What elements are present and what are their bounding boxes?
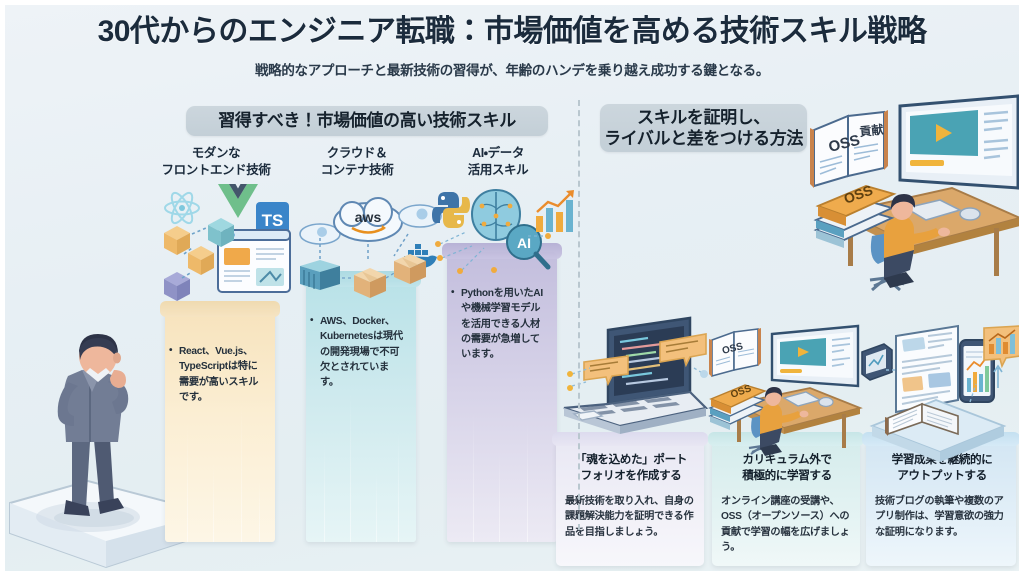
bullet-marker: • [310, 313, 313, 328]
bar-chart-trend-icon [984, 326, 1020, 366]
skill-body-text: AWS、Docker、Kubernetesは現代の開発現場で不可欠とされています… [320, 316, 403, 388]
method-title-line2: アウトプットする [897, 469, 987, 482]
oss-study-illustration: OSS [706, 326, 868, 450]
header: 30代からのエンジニア転職：市場価値を高める技術スキル戦略 戦略的なアプローチと… [0, 14, 1024, 79]
hero-desk-scene: OSS 貢献 [808, 96, 1024, 308]
skill-heading-line1: クラウド＆ [291, 145, 423, 162]
method-body-output: 技術ブログの執筆や複数のアプリ制作は、学習意欲の強力な証明になります。 [875, 494, 1009, 540]
method-title-line1: 「魂を込めた」ポート [575, 453, 687, 466]
method-body-selfstudy: オンライン講座の受講や、OSS（オープンソース）への貢献で学習の幅を広げましょう… [721, 494, 853, 555]
laptop-code-illustration [556, 312, 716, 448]
package-box-icon [354, 268, 386, 298]
ai-illustration: AI [432, 186, 582, 278]
bullet-marker: • [451, 285, 454, 300]
page-title: 30代からのエンジニア転職：市場価値を高める技術スキル戦略 [0, 14, 1024, 50]
pillar-streaks [165, 392, 275, 542]
skill-heading-frontend: モダンな フロントエンド技術 [150, 145, 282, 179]
pillar-streaks [447, 392, 557, 542]
open-book-icon: OSS 貢献 [810, 110, 888, 188]
react-icon [165, 190, 199, 226]
skill-heading-line2: 活用スキル [432, 162, 564, 179]
vue-icon [218, 184, 258, 218]
skill-body-text: React、Vue.js、TypeScriptは特に需要が高いスキルです。 [179, 346, 258, 403]
method-title-portfolio: 「魂を込めた」ポート フォリオを作成する [565, 452, 697, 483]
skill-heading-line1: AI・データ [432, 145, 564, 162]
arrow-up-icon [994, 366, 1002, 388]
chart-bubble-icon [862, 344, 892, 380]
businessman-illustration [48, 330, 158, 530]
skill-heading-ai: AI・データ 活用スキル [432, 145, 564, 179]
skill-body-frontend: • React、Vue.js、TypeScriptは特に需要が高いスキルです。 [178, 344, 266, 405]
bar-chart-trend-icon [536, 190, 574, 232]
aws-cloud-icon: aws [334, 198, 402, 241]
pillar-streaks [306, 392, 416, 542]
skill-heading-line2: フロントエンド技術 [150, 162, 282, 179]
cloud-illustration: aws [296, 186, 442, 296]
skill-body-text: Pythonを用いたAIや機械学習モデルを活用できる人材の需要が急増しています。 [461, 288, 543, 360]
left-section-label: 習得すべき！市場価値の高い技術スキル [218, 110, 516, 131]
oss-book-label2: 貢献 [859, 122, 884, 139]
method-title-line1: カリキュラム外で [742, 453, 831, 466]
svg-text:TS: TS [262, 211, 284, 230]
container-icon [300, 260, 340, 290]
skill-heading-cloud: クラウド＆ コンテナ技術 [291, 145, 423, 179]
skill-pillar-cloud: • AWS、Docker、Kubernetesは現代の開発現場で不可欠とされてい… [306, 280, 416, 542]
magnifier-label: AI [517, 235, 531, 251]
page-subtitle: 戦略的なアプローチと最新技術の習得が、年齢のハンデを乗り越え成功する鍵となる。 [0, 59, 1024, 79]
frontend-illustration: TS [152, 178, 292, 318]
skill-body-cloud: • AWS、Docker、Kubernetesは現代の開発現場で不可欠とされてい… [319, 314, 407, 390]
open-book-icon: OSS [709, 328, 761, 377]
mouse-icon [960, 208, 980, 220]
monitor-video-icon [772, 326, 858, 386]
bullet-marker: • [169, 343, 172, 358]
output-illustration [862, 326, 1022, 450]
method-title-line2: 積極的に学習する [742, 469, 832, 482]
method-card-selfstudy: カリキュラム外で 積極的に学習する オンライン講座の受講や、OSS（オープンソー… [712, 440, 860, 566]
skill-heading-line2: コンテナ技術 [291, 162, 423, 179]
right-section-header: スキルを証明し、 ライバルと差をつける方法 [600, 104, 807, 152]
infographic-canvas: 30代からのエンジニア転職：市場価値を高める技術スキル戦略 戦略的なアプローチと… [0, 0, 1024, 576]
right-section-label-line2: ライバルと差をつける方法 [604, 128, 803, 149]
monitor-video-icon [900, 96, 1018, 188]
section-divider [578, 100, 580, 530]
blog-article-icon [896, 326, 958, 412]
skill-pillar-ai: • Pythonを用いたAIや機械学習モデルを活用できる人材の需要が急増していま… [447, 252, 557, 542]
right-section-label-line1: スキルを証明し、 [604, 107, 803, 128]
aws-cloud-label: aws [355, 209, 382, 225]
method-body-portfolio: 最新技術を取り入れ、自身の課題解決能力を証明できる作品を目指しましょう。 [565, 494, 697, 540]
skill-pillar-frontend: • React、Vue.js、TypeScriptは特に需要が高いスキルです。 [165, 310, 275, 542]
method-title-selfstudy: カリキュラム外で 積極的に学習する [721, 452, 853, 483]
skill-body-ai: • Pythonを用いたAIや機械学習モデルを活用できる人材の需要が急増していま… [460, 286, 548, 362]
method-title-line2: フォリオを作成する [581, 469, 682, 482]
skill-heading-line1: モダンな [150, 145, 282, 162]
python-icon [432, 192, 470, 228]
mouse-icon [819, 398, 833, 407]
left-section-header: 習得すべき！市場価値の高い技術スキル [186, 106, 548, 136]
